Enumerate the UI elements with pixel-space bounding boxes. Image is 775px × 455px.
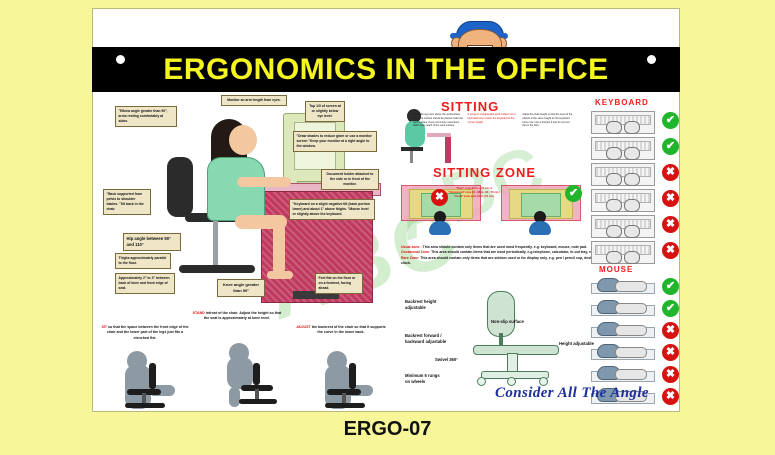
keyboard-row: ✔ [591, 135, 679, 160]
chair-label-backrest-height: Backrest height adjustable [405, 299, 449, 310]
banner-stud-right [647, 55, 656, 64]
keyboard-row: ✖ [591, 161, 679, 186]
mouse-badge-no: ✖ [662, 322, 679, 339]
poster-title: ERGONOMICS IN THE OFFICE [163, 53, 608, 87]
callout-hip-angle: Hip angle between 90° and 110° [123, 233, 181, 251]
caption-sit-text: so that the space between the front edge… [107, 325, 189, 340]
banner-stud-left [116, 55, 125, 64]
sitting-zone-heading: SITTING ZONE [433, 165, 536, 180]
chair-diagram-backrest [487, 291, 515, 337]
chair-label-swivel: Swivel 360° [435, 357, 479, 363]
keyboard-badge-ok: ✔ [662, 138, 679, 155]
mouse-badge-no: ✖ [662, 388, 679, 405]
zone-legend: "Rare" zone 28 in.+ (70 cm.+) "Occasiona… [443, 187, 505, 199]
figure-sit [99, 307, 195, 415]
keyword-adjust: ADJUST [296, 325, 310, 329]
keyboard-icon [591, 137, 655, 160]
chair-diagram: Backrest height adjustable Backrest forw… [403, 289, 603, 393]
figure-adjust [299, 307, 395, 415]
sitting-col-1: Adequate leg room above the worksurface.… [413, 113, 464, 165]
sitting-zone-graphics: ✖ ✔ "Rare" zone 28 in.+ (70 cm.+) "Occas… [401, 181, 581, 243]
chair-label-backrest-forward: Backrest forward / backward adjustable [405, 333, 461, 344]
mouse-badge-ok: ✔ [662, 300, 679, 317]
keyboard-badge-no: ✖ [662, 190, 679, 207]
mouse-badge-ok: ✔ [662, 278, 679, 295]
zone-note-occasional-label: Occasional Zone: [401, 250, 430, 254]
zone-note-occasional-text: This area should contain items that are … [431, 250, 602, 254]
mouse-row: ✖ [591, 363, 679, 384]
callout-feet: Feet flat on the floor or on a footrest,… [315, 273, 363, 294]
keyword-sit: SIT [101, 325, 107, 329]
zone-card-correct: ✔ [501, 181, 579, 239]
zone-note-rare-label: Rare Zone: [401, 256, 419, 260]
poster-body: ABC ABC "Elbow angle greater than 90°, a… [93, 93, 679, 411]
caption-adjust-text: the backrest of the chair so that it sup… [312, 325, 386, 334]
callout-back-support: "Back supported from pelvis to shoulder … [103, 189, 151, 215]
zone-note-rare-text: This area should contain only items that… [401, 256, 616, 265]
zone-notes: Usual zone : This area should contain on… [401, 245, 623, 267]
keyboard-icon [591, 241, 655, 264]
chair-label-non-slip: Non-slip surface [491, 319, 553, 325]
caption-stand: STAND infront of the chair. Adjust the h… [191, 311, 283, 322]
zone-note-usual-text: This area should contain only items that… [423, 245, 587, 249]
zone-legend-usual: "Usual" zone upto 16 in. (15 cm.) [443, 195, 505, 199]
mouse-heading: MOUSE [599, 265, 633, 274]
sitting-col-2: If using an unadjustable work surface us… [468, 113, 519, 165]
chair-label-rungs: Minimum 5 rungs on wheels [405, 373, 445, 384]
chair-label-height-adjustable: Height adjustable [559, 341, 599, 347]
callout-screen-top: Top 1/3 of screen at or slightly below e… [305, 101, 345, 122]
callout-document-holder: Document holder attached to the side or … [321, 169, 379, 190]
tagline: Consider All The Angle [495, 385, 649, 402]
keyboard-icon [591, 163, 655, 186]
sitting-text-columns: Adequate leg room above the worksurface.… [413, 113, 573, 165]
callout-monitor-distance: Monitor an arm length from eyes. [221, 95, 287, 106]
keyboard-row: ✔ [591, 109, 679, 134]
zone-note-usual-label: Usual zone : [401, 245, 422, 249]
posture-figures-row: SIT so that the space between the front … [99, 307, 405, 415]
callout-glare: "Draw shades to reduce glare or use a mo… [293, 131, 377, 152]
zone-note-rare: Rare Zone: This area should contain only… [401, 256, 623, 267]
mouse-row: ✖ [591, 341, 679, 362]
keyboard-icon [591, 111, 655, 134]
callout-thighs: Thighs approximately parallel to the flo… [115, 253, 171, 269]
keyboard-row: ✖ [591, 187, 679, 212]
keyboard-badge-no: ✖ [662, 242, 679, 259]
keyboard-icon [591, 189, 655, 212]
mouse-row: ✔ [591, 297, 679, 318]
mouse-row: ✔ [591, 275, 679, 296]
keyboard-rows: ✔ ✔ ✖ ✖ ✖ ✖ [591, 109, 679, 265]
keyboard-row: ✖ [591, 213, 679, 238]
mouse-row: ✖ [591, 319, 679, 340]
sitting-col-3: Adjust the chair height so that the leve… [522, 113, 573, 165]
keyword-stand: STAND [193, 311, 205, 315]
caption-sit: SIT so that the space between the front … [99, 325, 191, 341]
zone-badge-correct: ✔ [565, 185, 582, 202]
mouse-badge-no: ✖ [662, 344, 679, 361]
caption-stand-text: infront of the chair. Adjust the height … [204, 311, 282, 320]
keyboard-heading: KEYBOARD [595, 98, 649, 107]
callout-knee-clearance: Approximately 2" to 3" between back of k… [115, 273, 175, 294]
keyboard-row: ✖ [591, 239, 679, 264]
poster-caption: ERGO-07 [0, 418, 775, 441]
poster-title-banner: ERGONOMICS IN THE OFFICE [92, 47, 680, 92]
keyboard-badge-ok: ✔ [662, 112, 679, 129]
figure-stand [199, 307, 295, 415]
keyboard-badge-no: ✖ [662, 216, 679, 233]
caption-adjust: ADJUST the backrest of the chair so that… [295, 325, 387, 336]
keyboard-badge-no: ✖ [662, 164, 679, 181]
callout-keyboard-tilt: "Keyboard on a slight negative tilt (bac… [289, 199, 375, 220]
callout-knee-angle: Knee angle greater than 90° [217, 279, 265, 297]
keyboard-icon [591, 215, 655, 238]
callout-elbow-angle: "Elbow angle greater than 90°, arms rest… [115, 106, 177, 127]
right-column: SITTING Adequate leg room above the work… [399, 93, 681, 413]
worker-figure [185, 119, 293, 269]
mouse-badge-no: ✖ [662, 366, 679, 383]
